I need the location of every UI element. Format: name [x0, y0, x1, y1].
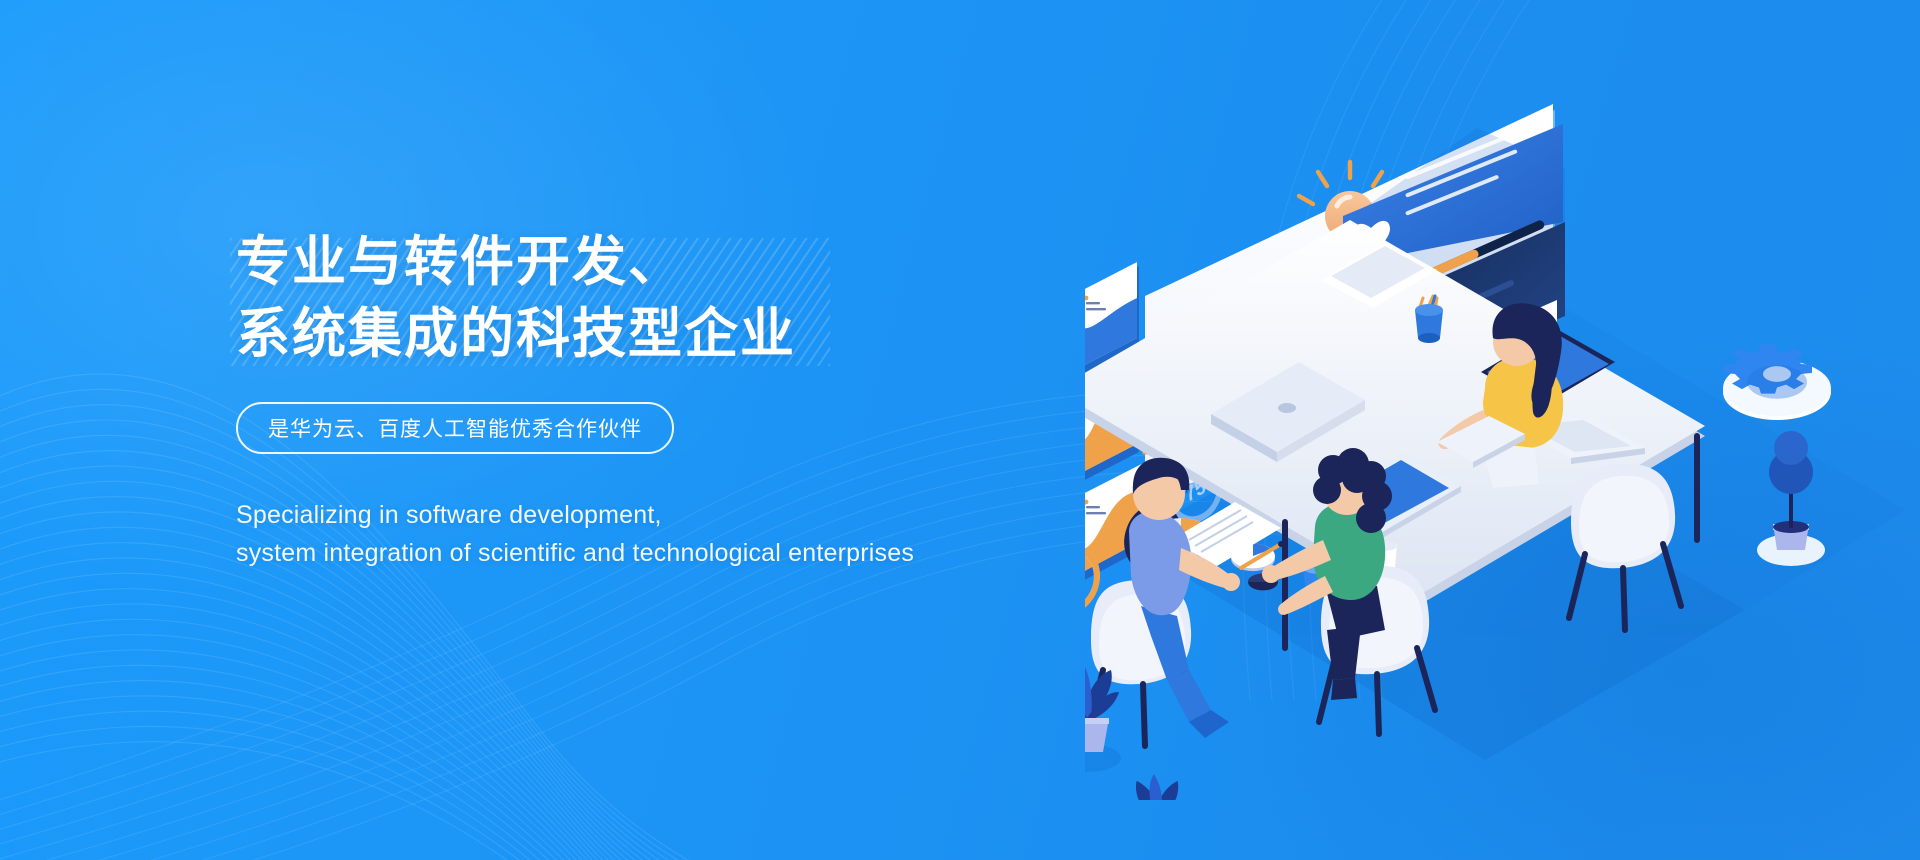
- isometric-scene-svg: 65 123 97 81: [1085, 70, 1920, 800]
- gear-icon: [1723, 344, 1831, 420]
- hero-illustration: 65 123 97 81: [1085, 70, 1920, 800]
- subtitle-line-2: system integration of scientific and tec…: [236, 534, 1156, 572]
- hero-banner: 专业与转件开发、 系统集成的科技型企业 是华为云、百度人工智能优秀合作伙伴 Sp…: [0, 0, 1920, 860]
- partner-badge: 是华为云、百度人工智能优秀合作伙伴: [236, 402, 674, 454]
- subtitle-line-1: Specializing in software development,: [236, 496, 1156, 534]
- headline-line-1: 专业与转件开发、: [236, 232, 1156, 292]
- hero-copy: 专业与转件开发、 系统集成的科技型企业 是华为云、百度人工智能优秀合作伙伴 Sp…: [236, 232, 1156, 572]
- page-title: 专业与转件开发、 系统集成的科技型企业: [236, 232, 1156, 364]
- plant-icon: [1132, 774, 1183, 800]
- subtitle: Specializing in software development, sy…: [236, 496, 1156, 572]
- headline-line-2: 系统集成的科技型企业: [236, 304, 1156, 364]
